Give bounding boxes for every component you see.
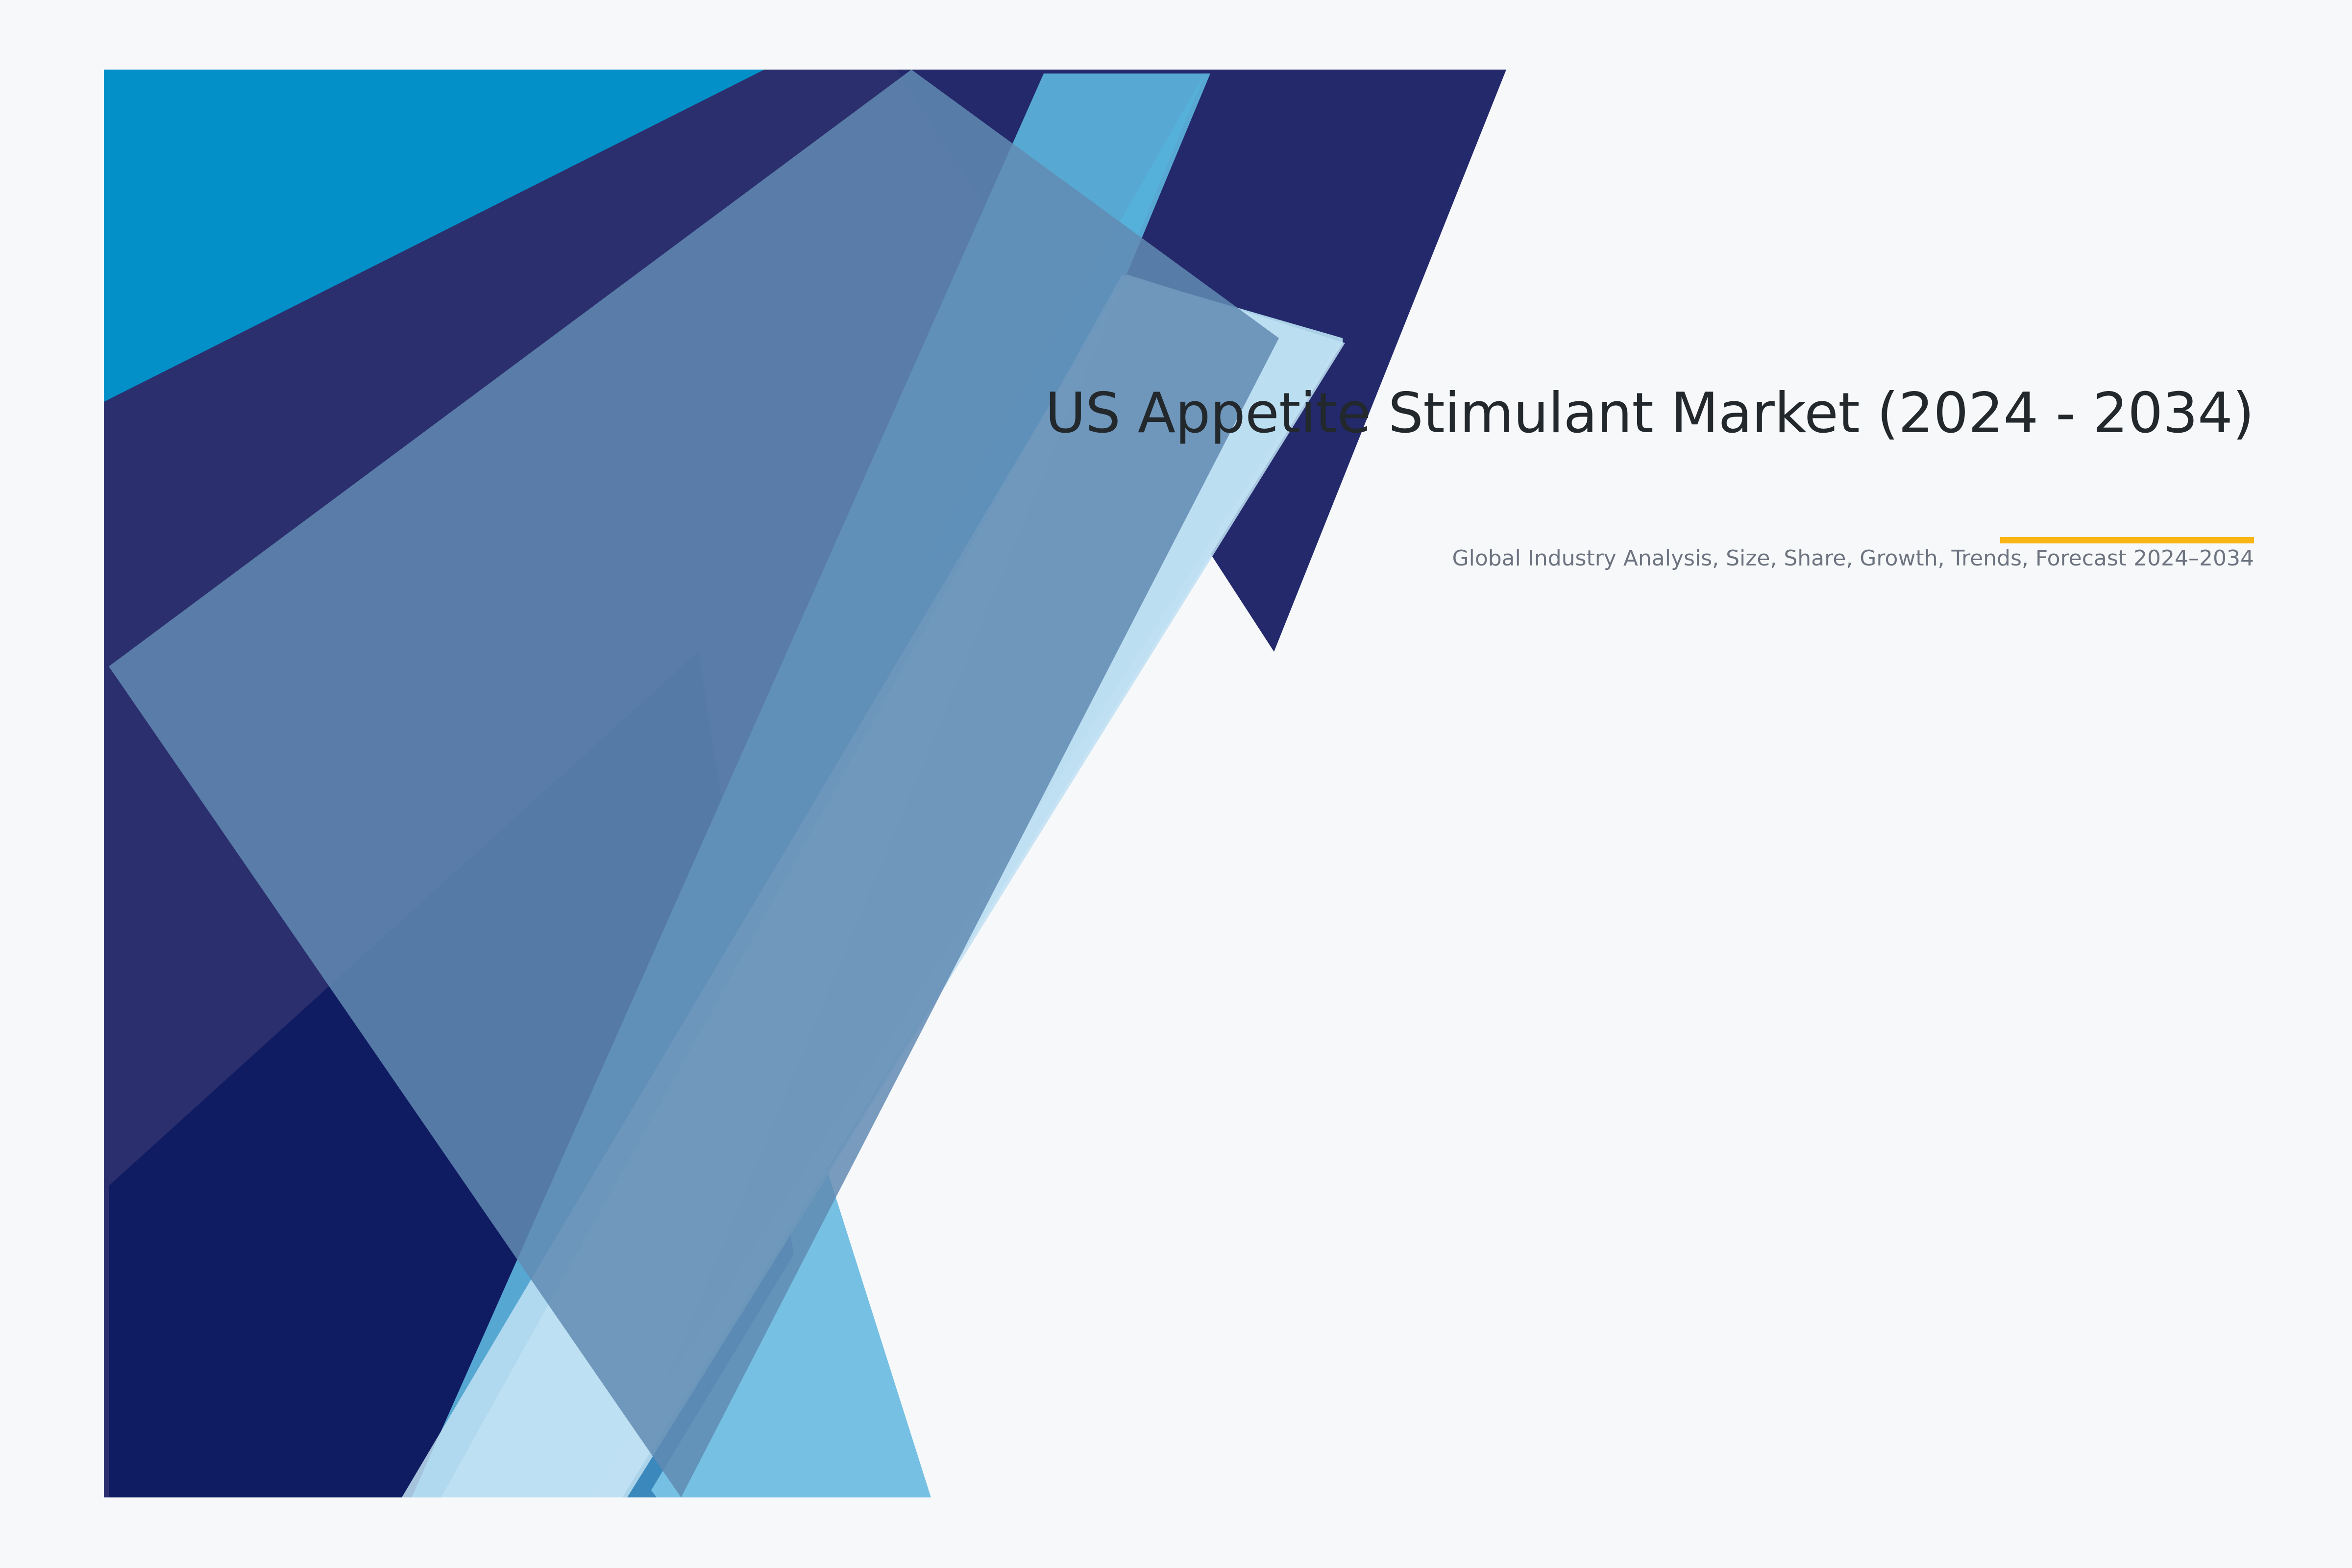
deep-navy-lower-wedge bbox=[109, 1117, 657, 1497]
indigo-left-column bbox=[104, 70, 1506, 1497]
slide-canvas: US Appetite Stimulant Market (2024 - 203… bbox=[0, 0, 2352, 1568]
page-subtitle: Global Industry Analysis, Size, Share, G… bbox=[833, 449, 2254, 574]
cyan-top-left-field bbox=[104, 70, 1506, 1497]
slate-blue-overlay-quad bbox=[109, 70, 1279, 1497]
title-underline-accent bbox=[2000, 537, 2254, 543]
title-wrapper: US Appetite Stimulant Market (2024 - 203… bbox=[833, 377, 2254, 449]
page-title: US Appetite Stimulant Market (2024 - 203… bbox=[833, 377, 2254, 449]
artwork-background bbox=[0, 0, 2352, 1568]
deep-navy-wedge bbox=[109, 652, 794, 1497]
sky-blue-fold-highlight bbox=[571, 1034, 931, 1497]
cover-artwork bbox=[0, 0, 2352, 1568]
cover-text-block: US Appetite Stimulant Market (2024 - 203… bbox=[833, 377, 2254, 574]
sky-blue-diagonal-band bbox=[412, 73, 1210, 1497]
